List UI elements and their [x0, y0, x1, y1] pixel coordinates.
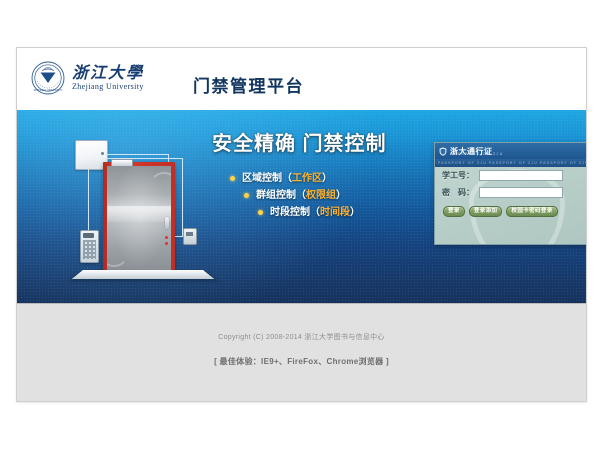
hero-copy: 安全精确 门禁控制 区域控制（工作区） 群组控制（权限组） 时段控制（时间段）: [212, 132, 417, 221]
bullet-icon: [244, 193, 249, 198]
door-highlight-band: [107, 206, 171, 222]
feature-text: 时段控制（: [270, 204, 320, 221]
login-panel-header: 浙大通行证 PASSPORT OF ZJU: [435, 143, 586, 159]
password-row: 密 码：: [435, 187, 586, 198]
svg-text:ZHEJIANG UNIVERSITY: ZHEJIANG UNIVERSITY: [34, 88, 63, 92]
feature-text: 区域控制（: [242, 170, 292, 187]
door-handle-icon: [165, 217, 169, 229]
feature-item-group-control: 群组控制（权限组）: [244, 187, 417, 204]
login-panel-subtitle: PASSPORT OF ZJU: [450, 152, 504, 156]
feature-item-area-control: 区域控制（工作区）: [230, 170, 417, 187]
door-lock-indicator-2: [165, 242, 168, 245]
login-button-row: 登录 登录添加 校园卡密码登录: [435, 206, 586, 217]
door-leaf: [107, 166, 171, 275]
password-input[interactable]: [479, 187, 563, 198]
wire-controller-to-keypad: [88, 168, 89, 230]
username-label: 学工号：: [442, 170, 479, 181]
site-header: ZHEJIANG UNIVERSITY 浙江大學 Zhejiang Univer…: [17, 48, 586, 110]
hero-banner: 安全精确 门禁控制 区域控制（工作区） 群组控制（权限组） 时段控制（时间段）: [17, 110, 586, 303]
shield-icon: [439, 147, 447, 156]
login-form: 学工号： 密 码： 登录 登录添加 校园卡密码登录: [435, 170, 586, 217]
hero-headline: 安全精确 门禁控制: [212, 132, 417, 156]
footer-content: Copyright (C) 2008-2014 浙江大学图书与信息中心 [ 最佳…: [17, 332, 586, 368]
feature-tail: ）: [350, 204, 360, 221]
copyright-text: Copyright (C) 2008-2014 浙江大学图书与信息中心: [17, 332, 586, 344]
feature-accent: 权限组: [306, 187, 336, 204]
feature-tail: ）: [322, 170, 332, 187]
wire-reader-drop: [182, 158, 183, 236]
bullet-icon: [230, 176, 235, 181]
feature-tail: ）: [336, 187, 346, 204]
feature-text: 群组控制（: [256, 187, 306, 204]
zju-seal-icon: ZHEJIANG UNIVERSITY: [31, 61, 65, 95]
feature-accent: 时间段: [320, 204, 350, 221]
login-button[interactable]: 登录: [443, 206, 465, 217]
door-illustration: [47, 118, 207, 303]
door-lock-indicator-1: [165, 236, 168, 239]
card-reader-icon: [183, 228, 197, 245]
login-add-button[interactable]: 登录添加: [469, 206, 503, 217]
red-framed-door: [103, 162, 175, 275]
page-root: ZHEJIANG UNIVERSITY 浙江大學 Zhejiang Univer…: [0, 0, 600, 450]
feature-item-time-control: 时段控制（时间段）: [258, 204, 417, 221]
logo-wordmark: 浙江大學 Zhejiang University: [72, 65, 144, 92]
login-panel-marquee: PASSPORT OF ZJU PASSPORT OF ZJU PASSPORT…: [435, 159, 586, 167]
browser-compatibility-note: [ 最佳体验：IE9+、FireFox、Chrome浏览器 ]: [17, 356, 586, 368]
feature-list: 区域控制（工作区） 群组控制（权限组） 时段控制（时间段）: [212, 170, 417, 221]
username-row: 学工号：: [435, 170, 586, 181]
floor-slab: [72, 270, 214, 279]
keypad-keys: [83, 240, 96, 259]
door-swirl-bottom-left: [107, 237, 129, 267]
bullet-icon: [258, 210, 263, 215]
door-swirl-top-right: [149, 172, 171, 202]
page-title: 门禁管理平台: [193, 72, 304, 97]
university-logo[interactable]: ZHEJIANG UNIVERSITY 浙江大學 Zhejiang Univer…: [31, 61, 144, 95]
campus-card-login-button[interactable]: 校园卡密码登录: [506, 206, 557, 217]
door-keypad-icon: [80, 230, 99, 263]
logo-chinese-name: 浙江大學: [72, 65, 144, 82]
password-label: 密 码：: [442, 187, 479, 198]
site-footer: Copyright (C) 2008-2014 浙江大学图书与信息中心 [ 最佳…: [17, 303, 586, 402]
username-input[interactable]: [479, 170, 563, 181]
login-panel: 浙大通行证 PASSPORT OF ZJU PASSPORT OF ZJU PA…: [434, 142, 586, 245]
logo-english-name: Zhejiang University: [72, 82, 144, 92]
keypad-screen: [83, 233, 94, 238]
feature-accent: 工作区: [292, 170, 322, 187]
app-card: ZHEJIANG UNIVERSITY 浙江大學 Zhejiang Univer…: [16, 47, 587, 402]
wire-controller-to-door: [106, 154, 168, 155]
